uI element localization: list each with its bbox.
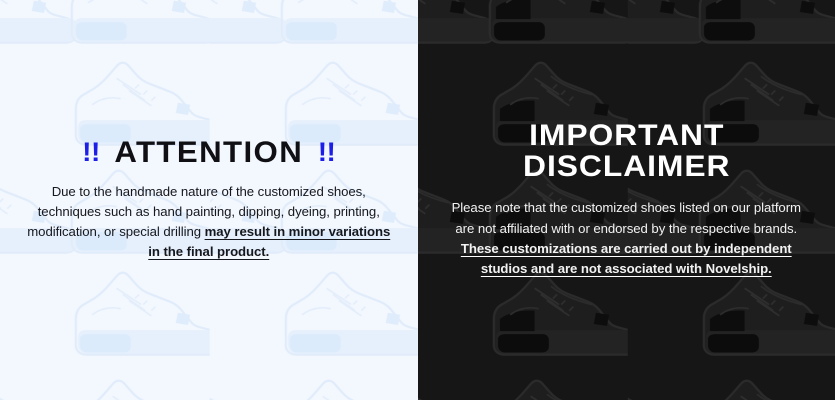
disclaimer-panel: IMPORTANT DISCLAIMER Please note that th… [418,0,835,400]
disclaimer-banner: !! ATTENTION !! Due to the handmade natu… [0,0,835,400]
attention-body: Due to the handmade nature of the custom… [26,182,392,262]
attention-content: !! ATTENTION !! Due to the handmade natu… [0,138,418,263]
disclaimer-heading: IMPORTANT DISCLAIMER [433,121,820,182]
attention-panel: !! ATTENTION !! Due to the handmade natu… [0,0,418,400]
attention-heading-text: ATTENTION [114,138,303,169]
disclaimer-heading-line1: IMPORTANT [433,121,820,152]
exclamation-left-icon: !! [82,139,100,167]
disclaimer-body-plain: Please note that the customized shoes li… [452,200,801,235]
exclamation-right-icon: !! [318,139,336,167]
disclaimer-body-emphasis: These customizations are carried out by … [461,241,792,276]
disclaimer-body: Please note that the customized shoes li… [444,198,810,278]
disclaimer-heading-line2: DISCLAIMER [433,152,820,183]
disclaimer-content: IMPORTANT DISCLAIMER Please note that th… [418,121,835,278]
attention-heading: !! ATTENTION !! [19,138,399,169]
